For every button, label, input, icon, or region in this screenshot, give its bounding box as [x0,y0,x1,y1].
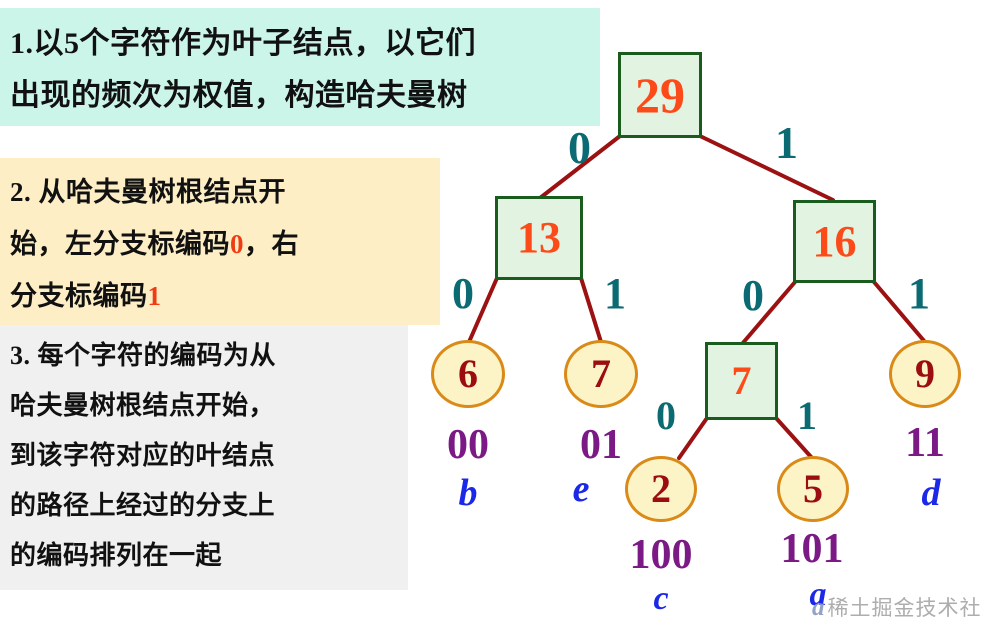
bit-16-left: 0 [742,274,764,318]
node-leaf-6-value: 6 [458,354,478,394]
node-leaf-7-value: 7 [591,354,611,394]
charlabel-d: d [881,474,981,512]
bit-13-right: 1 [604,272,626,316]
codeword-d: 11 [875,422,975,464]
node-leaf-7[interactable]: 7 [564,340,638,408]
slide-canvas: 1.以5个字符作为叶子结点，以它们 出现的频次为权值，构造哈夫曼树 2. 从哈夫… [0,0,997,628]
node-leaf-9-value: 9 [915,354,935,394]
edge-7-to-2 [679,418,707,458]
codeword-b: 00 [418,424,518,466]
charlabel-b: b [418,474,518,512]
node-leaf-9[interactable]: 9 [889,340,961,408]
node-leaf-2-value: 2 [651,469,671,509]
node-internal-16-value: 16 [813,220,857,264]
node-internal-16[interactable]: 16 [793,200,876,283]
watermark: a 稀土掘金技术社区 [812,592,997,628]
node-internal-13-value: 13 [517,216,561,260]
bit-13-left: 0 [452,272,474,316]
watermark-text: 稀土掘金技术社区 [828,592,997,628]
node-leaf-6[interactable]: 6 [431,340,505,408]
bit-root-right: 1 [775,120,798,166]
charlabel-e: e [531,470,631,508]
charlabel-c: c [601,582,721,616]
node-internal-7-value: 7 [732,361,752,401]
edge-13-to-7leaf [581,278,601,342]
node-internal-13[interactable]: 13 [495,196,583,280]
bit-root-left: 0 [568,125,591,171]
node-root-29[interactable]: 29 [618,52,702,138]
watermark-logo-icon: a [812,594,826,622]
codeword-c: 100 [601,534,721,576]
node-leaf-5-value: 5 [803,469,823,509]
node-internal-7[interactable]: 7 [705,342,778,420]
codeword-e: 01 [551,424,651,466]
node-leaf-5[interactable]: 5 [777,456,849,522]
bit-16-right: 1 [908,272,930,316]
bit-7-right: 1 [797,396,817,436]
node-root-29-value: 29 [635,70,685,120]
codeword-a: 101 [750,528,874,570]
edge-root-to-16 [700,136,833,200]
bit-7-left: 0 [656,396,676,436]
